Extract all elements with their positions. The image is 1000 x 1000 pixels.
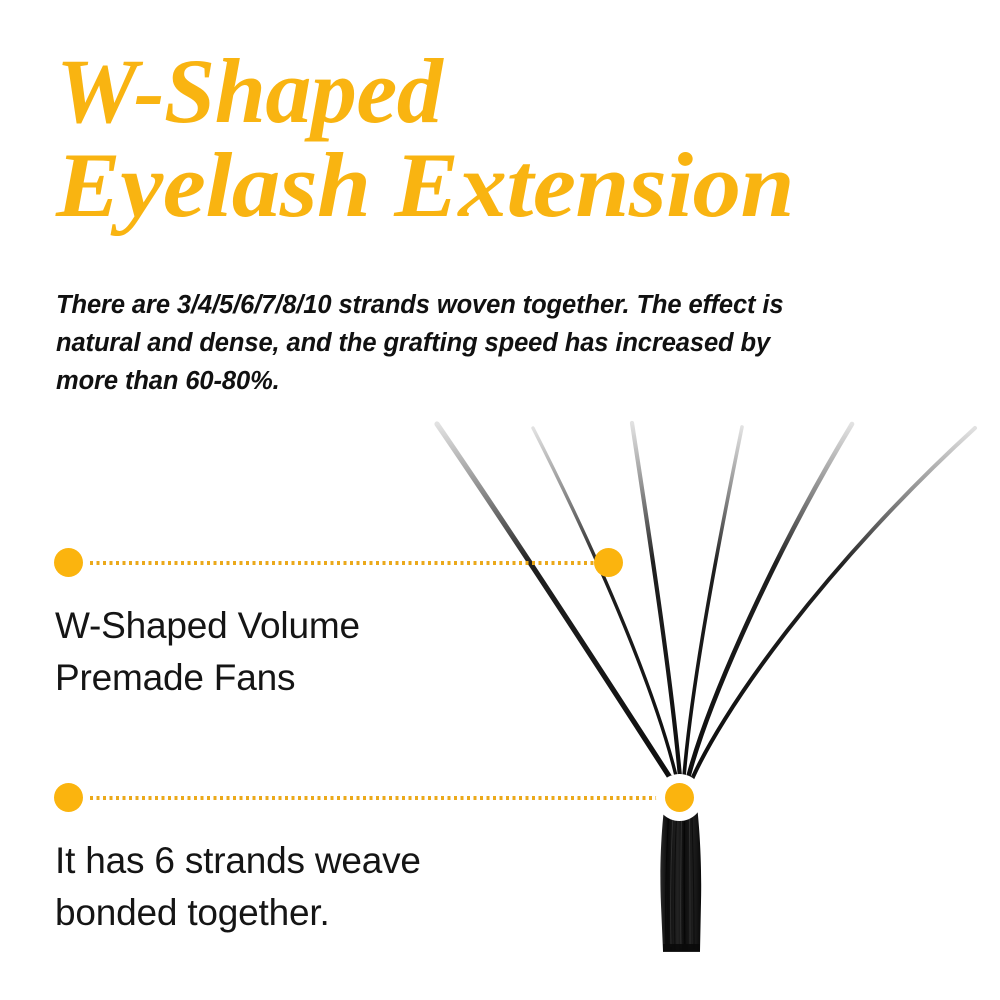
product-infographic-page: W-Shaped Eyelash Extension There are 3/4… — [0, 0, 1000, 1000]
title-line-2: Eyelash Extension — [56, 140, 1000, 230]
callout-1-left-marker-dot — [54, 548, 83, 577]
title-line-1: W-Shaped — [56, 46, 956, 136]
lash-strand-1 — [437, 424, 678, 790]
callout-1-dotted-line — [90, 561, 612, 565]
callout-1-right-marker-dot — [594, 548, 623, 577]
callout-2-label: It has 6 strands weave bonded together. — [55, 835, 421, 939]
lash-strand-2 — [533, 428, 679, 789]
callout-2-dotted-line — [90, 796, 682, 800]
lash-strand-group — [437, 423, 975, 791]
callout-1-label: W-Shaped Volume Premade Fans — [55, 600, 360, 704]
lash-strand-6 — [687, 428, 975, 791]
lash-strand-5 — [685, 424, 852, 790]
lash-strand-4 — [683, 427, 742, 789]
lash-strand-3 — [632, 423, 681, 789]
callout-2-right-marker-dot — [665, 783, 694, 812]
intro-paragraph: There are 3/4/5/6/7/8/10 strands woven t… — [56, 286, 796, 400]
callout-2-left-marker-dot — [54, 783, 83, 812]
page-title: W-Shaped Eyelash Extension — [56, 46, 956, 230]
